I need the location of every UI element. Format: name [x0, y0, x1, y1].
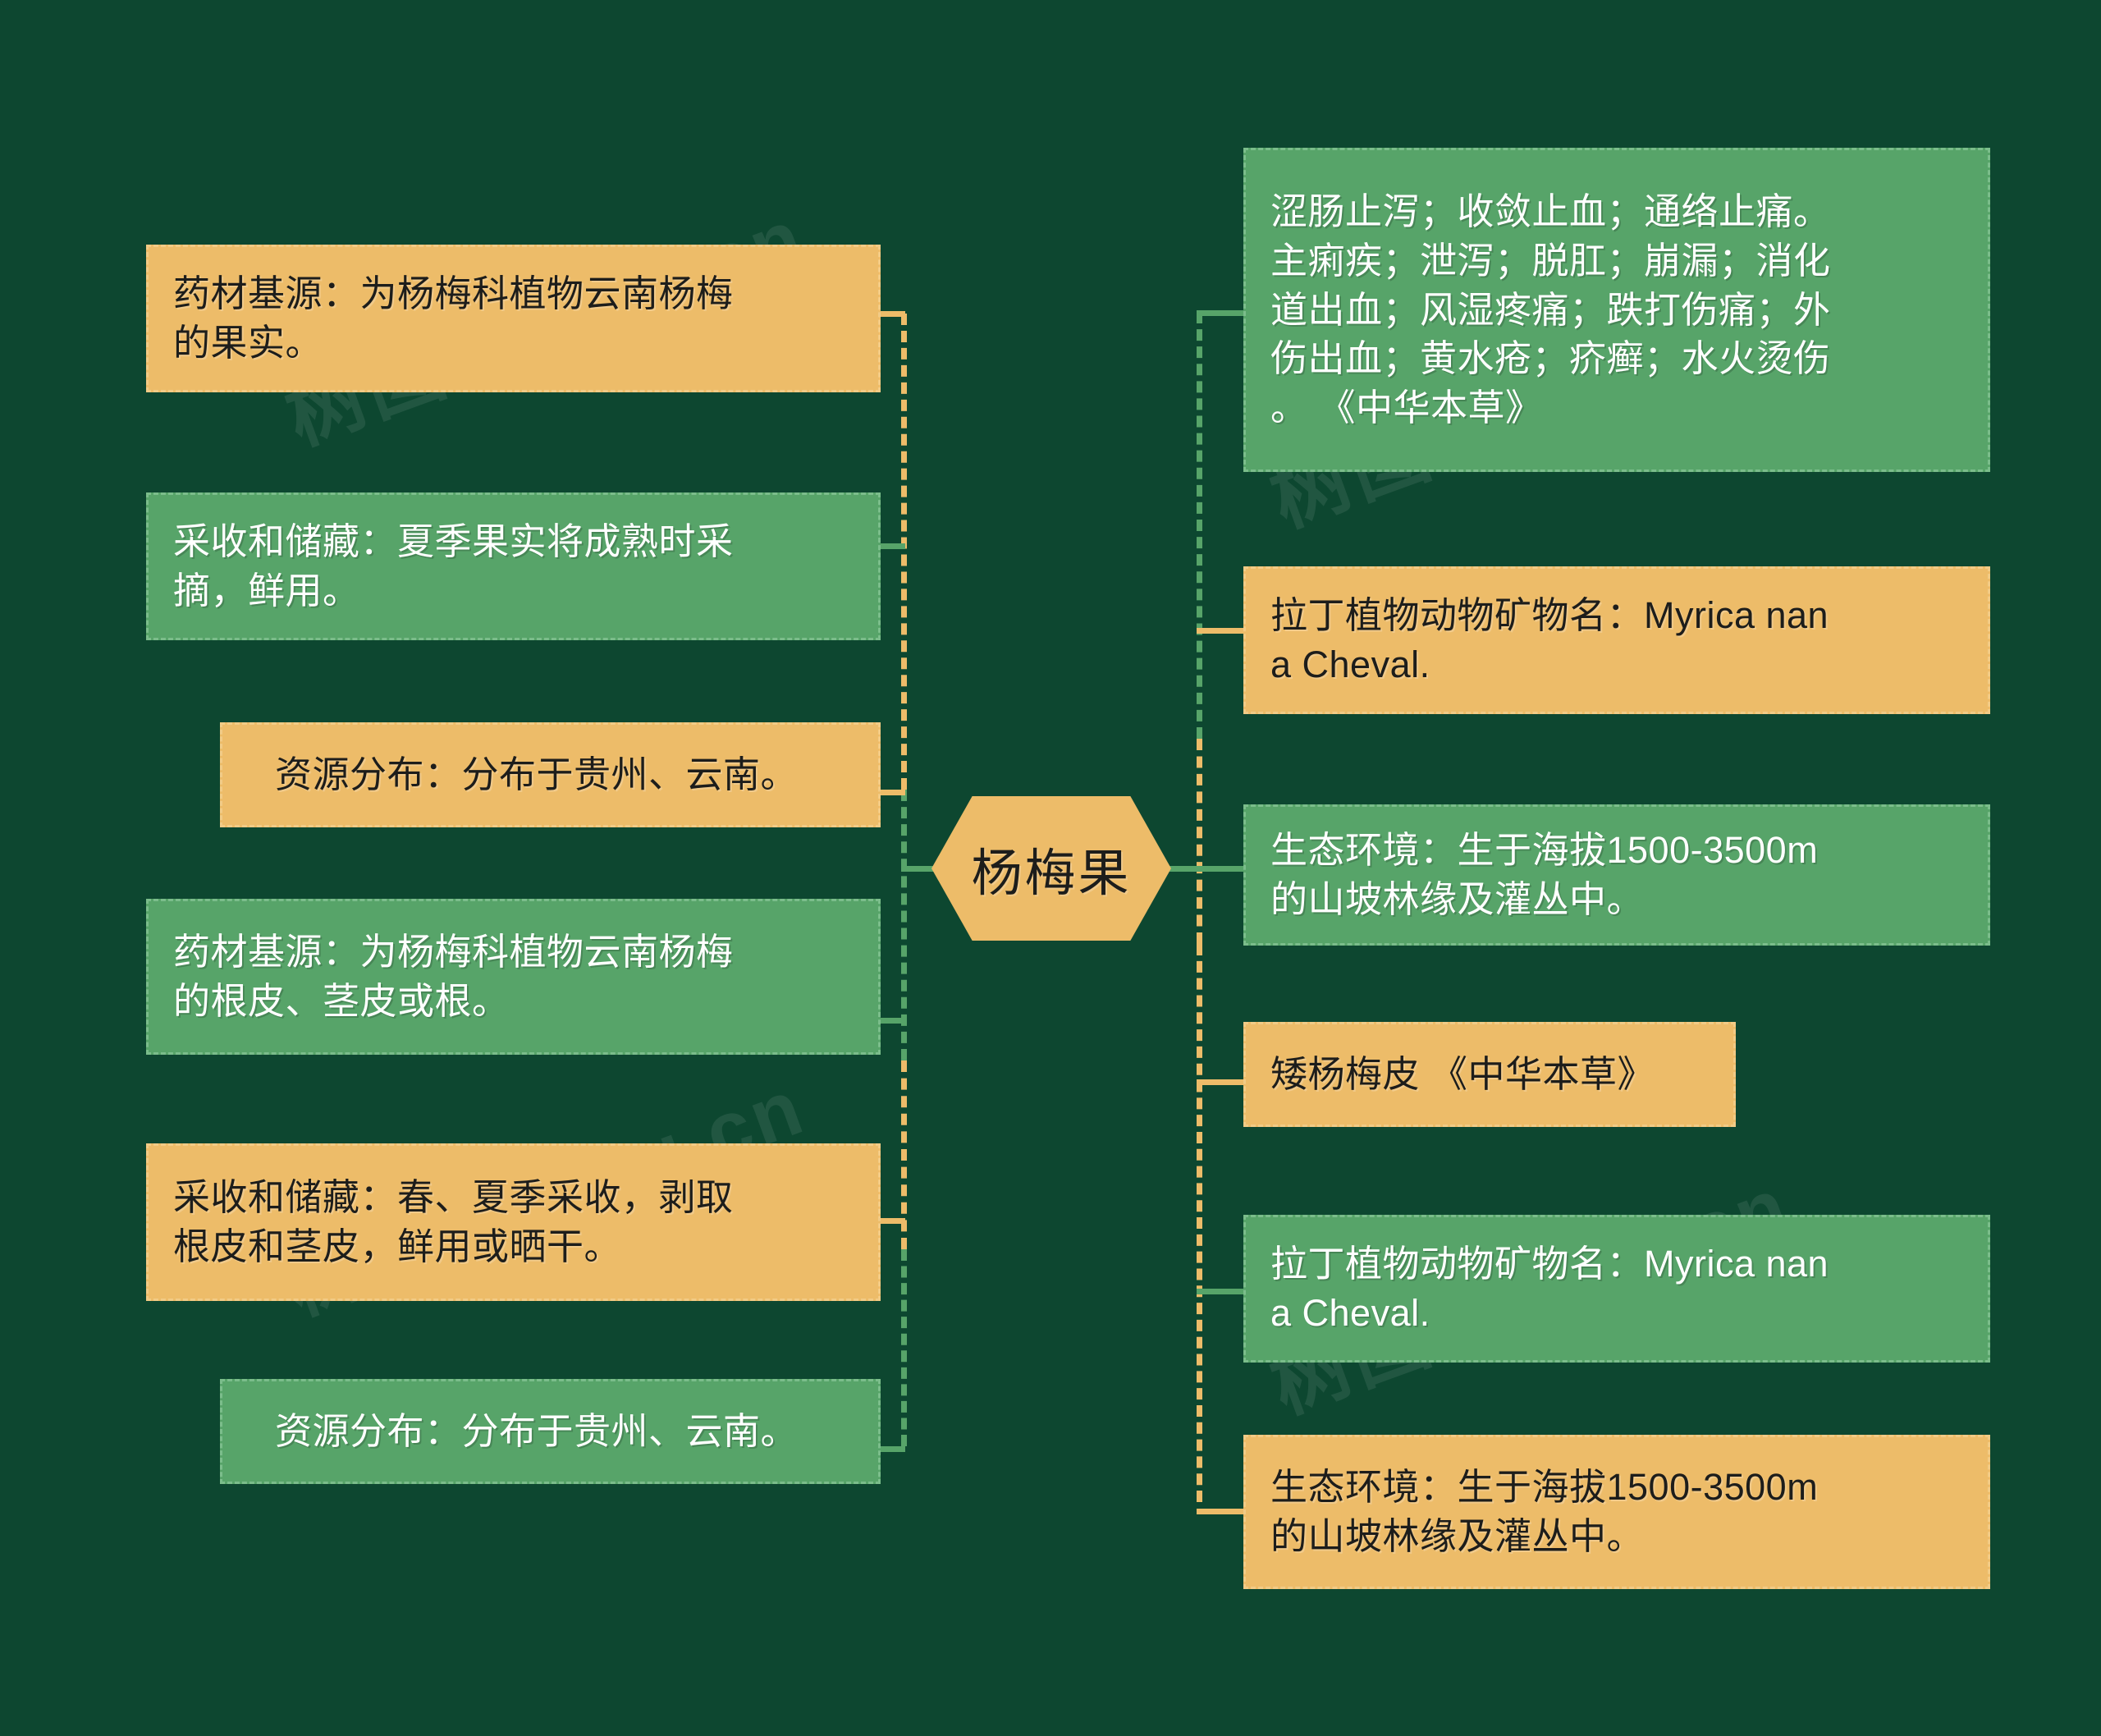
right-node-3[interactable]: 生态环境：生于海拔1500-3500m 的山坡林缘及灌丛中。: [1243, 804, 1990, 946]
node-line: 资源分布：分布于贵州、云南。: [275, 750, 855, 799]
right-node-1[interactable]: 涩肠止泻；收敛止血；通络止痛。 主痢疾；泄泻；脱肛；崩漏；消化 道出血；风湿疼痛…: [1243, 148, 1990, 472]
left-node-4[interactable]: 药材基源：为杨梅科植物云南杨梅 的根皮、茎皮或根。: [146, 899, 881, 1055]
right-connector-stub-4: [1197, 1079, 1244, 1085]
right-spine-mid: [1197, 739, 1202, 944]
left-node-2[interactable]: 采收和储藏：夏季果实将成熟时采 摘，鲜用。: [146, 492, 881, 640]
node-line: 的山坡林缘及灌丛中。: [1270, 875, 1965, 924]
center-node-yangmeiguo[interactable]: 杨梅果: [931, 796, 1171, 941]
right-node-6[interactable]: 生态环境：生于海拔1500-3500m 的山坡林缘及灌丛中。: [1243, 1435, 1990, 1589]
left-node-6[interactable]: 资源分布：分布于贵州、云南。: [220, 1379, 881, 1484]
center-node-label: 杨梅果: [971, 831, 1131, 905]
node-line: 道出血；风湿疼痛；跌打伤痛；外: [1270, 286, 1965, 335]
right-connector-stub-2: [1197, 628, 1244, 634]
left-node-5[interactable]: 采收和储藏：春、夏季采收，剥取 根皮和茎皮，鲜用或晒干。: [146, 1143, 881, 1301]
node-line: 药材基源：为杨梅科植物云南杨梅: [173, 928, 855, 977]
right-connector-stub-5: [1197, 1289, 1244, 1294]
node-line: a Cheval.: [1270, 640, 1965, 689]
left-node-1[interactable]: 药材基源：为杨梅科植物云南杨梅 的果实。: [146, 245, 881, 392]
node-line: 生态环境：生于海拔1500-3500m: [1270, 1463, 1965, 1512]
right-node-2[interactable]: 拉丁植物动物矿物名：Myrica nan a Cheval.: [1243, 566, 1990, 714]
node-line: 涩肠止泻；收敛止血；通络止痛。: [1270, 187, 1965, 236]
node-line: 矮杨梅皮 《中华本草》: [1270, 1050, 1710, 1099]
node-line: 采收和储藏：春、夏季采收，剥取: [173, 1173, 855, 1222]
node-line: 的根皮、茎皮或根。: [173, 977, 855, 1026]
right-spine-lower: [1197, 944, 1202, 1502]
node-line: 生态环境：生于海拔1500-3500m: [1270, 826, 1965, 875]
node-line: 的山坡林缘及灌丛中。: [1270, 1512, 1965, 1561]
node-line: 摘，鲜用。: [173, 566, 855, 616]
node-line: 资源分布：分布于贵州、云南。: [275, 1407, 855, 1456]
left-node-3[interactable]: 资源分布：分布于贵州、云南。: [220, 722, 881, 827]
right-connector-stub-6: [1197, 1509, 1244, 1514]
node-line: 。 《中华本草》: [1270, 383, 1965, 433]
right-spine-upper: [1197, 312, 1202, 739]
node-line: 的果实。: [173, 318, 855, 368]
right-node-4[interactable]: 矮杨梅皮 《中华本草》: [1243, 1022, 1736, 1127]
left-spine-upper: [901, 314, 907, 790]
node-line: 拉丁植物动物矿物名：Myrica nan: [1270, 1239, 1965, 1289]
node-line: 采收和储藏：夏季果实将成熟时采: [173, 517, 855, 566]
right-connector-stub-3: [1170, 866, 1245, 872]
node-line: 伤出血；黄水疮；疥癣；水火烫伤: [1270, 334, 1965, 383]
right-connector-stub-1: [1197, 310, 1244, 316]
mindmap-canvas: 树图 shutu.cn 树图 shutu.cn 树图 shutu.cn 树图 s…: [0, 0, 2101, 1736]
right-node-5[interactable]: 拉丁植物动物矿物名：Myrica nan a Cheval.: [1243, 1215, 1990, 1363]
node-line: 药材基源：为杨梅科植物云南杨梅: [173, 269, 855, 318]
node-line: 主痢疾；泄泻；脱肛；崩漏；消化: [1270, 236, 1965, 286]
node-line: 拉丁植物动物矿物名：Myrica nan: [1270, 591, 1965, 640]
node-line: a Cheval.: [1270, 1289, 1965, 1338]
node-line: 根皮和茎皮，鲜用或晒干。: [173, 1222, 855, 1271]
left-spine-tail: [901, 1249, 907, 1446]
